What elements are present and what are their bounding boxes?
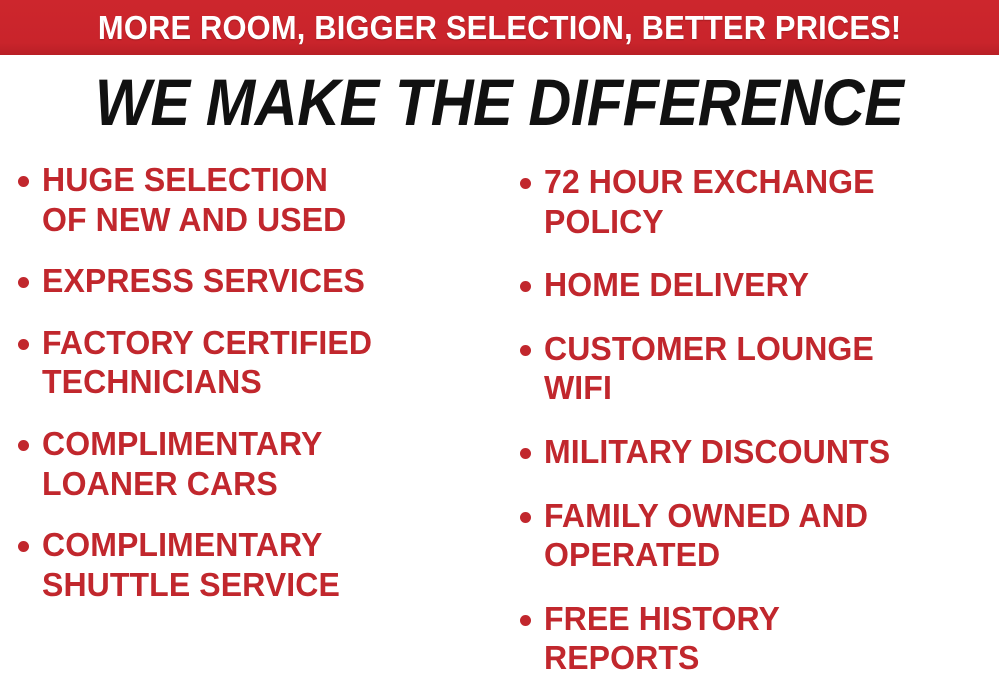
bullet-dot-icon [18, 176, 29, 187]
bullet-dot-icon [520, 345, 531, 356]
list-item-label: FREE HISTORY REPORTS [544, 599, 780, 678]
dealership-benefits-banner: MORE ROOM, BIGGER SELECTION, BETTER PRIC… [0, 0, 999, 692]
bullet-dot-icon [18, 277, 29, 288]
list-item: COMPLIMENTARY SHUTTLE SERVICE [18, 525, 510, 604]
list-item: FREE HISTORY REPORTS [520, 599, 999, 678]
list-item: COMPLIMENTARY LOANER CARS [18, 424, 510, 503]
bullet-dot-icon [520, 281, 531, 292]
list-item-label: COMPLIMENTARY SHUTTLE SERVICE [42, 525, 340, 604]
list-item: EXPRESS SERVICES [18, 261, 510, 301]
bullet-dot-icon [18, 440, 29, 451]
list-item-label: HUGE SELECTION OF NEW AND USED [42, 160, 346, 239]
benefits-column-left: HUGE SELECTION OF NEW AND USED EXPRESS S… [0, 152, 510, 626]
benefits-column-right: 72 HOUR EXCHANGE POLICY HOME DELIVERY CU… [510, 152, 999, 692]
bullet-dot-icon [520, 615, 531, 626]
promo-bar-text: MORE ROOM, BIGGER SELECTION, BETTER PRIC… [98, 11, 901, 44]
bullet-dot-icon [18, 541, 29, 552]
bullet-dot-icon [18, 339, 29, 350]
bullet-dot-icon [520, 512, 531, 523]
list-item-label: FACTORY CERTIFIED TECHNICIANS [42, 323, 372, 402]
list-item-label: COMPLIMENTARY LOANER CARS [42, 424, 322, 503]
list-item: HOME DELIVERY [520, 265, 999, 305]
list-item: HUGE SELECTION OF NEW AND USED [18, 160, 510, 239]
bullet-dot-icon [520, 178, 531, 189]
list-item: MILITARY DISCOUNTS [520, 432, 999, 472]
bullet-dot-icon [520, 448, 531, 459]
promo-bar: MORE ROOM, BIGGER SELECTION, BETTER PRIC… [0, 0, 999, 55]
list-item-label: EXPRESS SERVICES [42, 261, 365, 301]
benefits-columns: HUGE SELECTION OF NEW AND USED EXPRESS S… [0, 152, 999, 692]
list-item: FAMILY OWNED AND OPERATED [520, 496, 999, 575]
list-item: CUSTOMER LOUNGE WIFI [520, 329, 999, 408]
list-item: FACTORY CERTIFIED TECHNICIANS [18, 323, 510, 402]
list-item-label: CUSTOMER LOUNGE WIFI [544, 329, 874, 408]
list-item: 72 HOUR EXCHANGE POLICY [520, 162, 999, 241]
list-item-label: HOME DELIVERY [544, 265, 809, 305]
page-title: WE MAKE THE DIFFERENCE [95, 69, 904, 135]
list-item-label: 72 HOUR EXCHANGE POLICY [544, 162, 875, 241]
headline-container: WE MAKE THE DIFFERENCE [0, 62, 999, 142]
list-item-label: MILITARY DISCOUNTS [544, 432, 890, 472]
list-item-label: FAMILY OWNED AND OPERATED [544, 496, 868, 575]
